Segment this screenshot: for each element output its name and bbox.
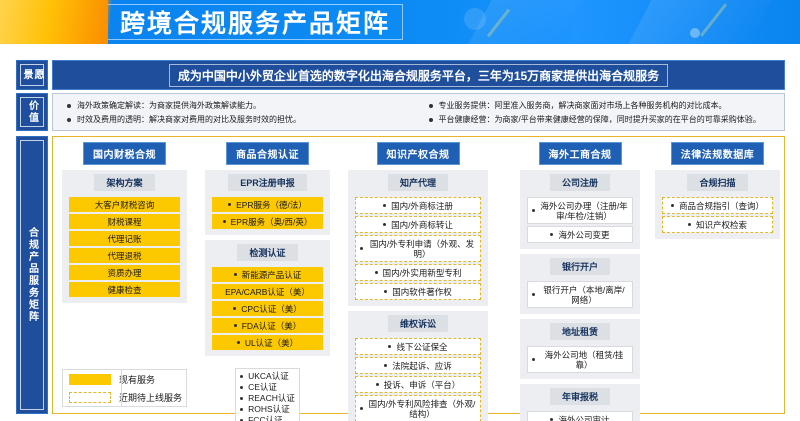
bullet-icon	[240, 397, 243, 400]
service-chip-label: 国内/外商标注册	[391, 201, 453, 211]
service-chip-label: 投诉、申诉（平台）	[384, 380, 461, 390]
column-header[interactable]: 法律法规数据库	[671, 142, 765, 165]
service-chip-label: EPR服务（奥/西/英）	[231, 217, 313, 227]
list-item[interactable]: ROHS认证	[240, 404, 295, 415]
service-chip[interactable]: 投诉、申诉（平台）	[355, 376, 481, 393]
service-chip[interactable]: 国内/外商标注册	[355, 197, 481, 214]
matrix-row-label: 合规产品服务矩阵	[16, 136, 48, 414]
service-chip[interactable]: 国内/外实用新型专利	[355, 264, 481, 281]
list-item-label: CE认证	[248, 382, 277, 393]
service-chip[interactable]: 财税课程	[69, 214, 180, 229]
service-chip-label: 资质办理	[107, 268, 141, 278]
service-chip-label: EPR服务（德/法）	[236, 200, 307, 210]
bullet-icon	[671, 204, 674, 207]
banner-line-decor-2	[700, 3, 727, 36]
vision-statement: 成为中国中小外贸企业首选的数字化出海合规服务平台，三年为15万商家提供出海合规服…	[169, 64, 668, 87]
service-chip[interactable]: 海外公司办理（注册/年审/年检/注销）	[527, 197, 633, 224]
group-subheader[interactable]: 检测认证	[237, 244, 297, 261]
legend-swatch-existing	[69, 374, 111, 385]
group-items: 新能源产品认证EPA/CARB认证（美）CPC认证（美）FDA认证（美）UL认证…	[208, 267, 327, 350]
service-chip[interactable]: EPR服务（德/法）	[212, 197, 323, 212]
service-chip-label: 国内/外专利风险排查（外观/结构）	[368, 399, 476, 419]
bullet-icon	[688, 223, 691, 226]
service-chip[interactable]: UL认证（美）	[212, 335, 323, 350]
group-items: 银行开户（本地/离岸/网络）	[523, 281, 637, 308]
matrix-column-5: 法律法规数据库合规扫描商品合规指引（查询）知识产权检索	[655, 142, 780, 239]
service-chip-label: UL认证（美）	[245, 338, 298, 348]
service-chip[interactable]: 法院起诉、应诉	[355, 357, 481, 374]
column-group: 知产代理国内/外商标注册国内/外商标转让国内/外专利申请（外观、发明）国内/外实…	[348, 170, 488, 306]
service-chip[interactable]: 国内/外专利风险排查（外观/结构）	[355, 395, 481, 421]
service-chip[interactable]: 代理记账	[69, 231, 180, 246]
bullet-icon	[388, 345, 391, 348]
list-item-label: REACH认证	[248, 393, 295, 404]
value-bar: 海外政策确定解读：为商家提供海外政策解读能力。 时效及费用的透明：解决商家对费用…	[52, 93, 785, 131]
list-item-label: UKCA认证	[248, 371, 289, 382]
service-chip[interactable]: 大客户财税咨询	[69, 197, 180, 212]
banner-circle-decor-2	[690, 28, 700, 38]
bullet-icon	[360, 247, 363, 250]
column-group: 检测认证新能源产品认证EPA/CARB认证（美）CPC认证（美）FDA认证（美）…	[205, 240, 330, 356]
bullet-icon	[67, 104, 71, 108]
page-title: 跨境合规服务产品矩阵	[120, 4, 390, 40]
service-chip-label: 海外公司地（租赁/挂靠）	[540, 350, 628, 370]
bullet-icon	[384, 364, 387, 367]
bullet-icon	[429, 118, 433, 122]
banner-swoosh-decor	[463, 0, 587, 44]
group-subheader[interactable]: 公司注册	[550, 174, 610, 191]
bullet-icon	[429, 104, 433, 108]
service-chip[interactable]: 线下公证保全	[355, 338, 481, 355]
group-subheader[interactable]: 年审报税	[550, 388, 610, 405]
bullet-icon	[234, 324, 237, 327]
service-chip-label: 线下公证保全	[396, 342, 447, 352]
service-chip-label: 健康检查	[107, 285, 141, 295]
column-group: EPR注册申报EPR服务（德/法）EPR服务（奥/西/英）	[205, 170, 330, 235]
column-group: 公司注册海外公司办理（注册/年审/年检/注销）海外公司变更	[520, 170, 640, 249]
value-column-left: 海外政策确定解读：为商家提供海外政策解读能力。 时效及费用的透明：解决商家对费用…	[57, 100, 419, 125]
bullet-icon	[67, 118, 71, 122]
group-subheader[interactable]: 架构方案	[94, 174, 154, 191]
service-chip-label: CPC认证（美）	[241, 304, 301, 314]
group-items: 商品合规指引（查询）知识产权检索	[658, 197, 777, 233]
column-header[interactable]: 国内财税合规	[83, 142, 166, 165]
bullet-icon	[532, 358, 535, 361]
legend-label-existing: 现有服务	[119, 373, 155, 386]
service-chip[interactable]: 代理退税	[69, 248, 180, 263]
service-chip[interactable]: EPR服务（奥/西/英）	[212, 214, 323, 229]
group-subheader[interactable]: 银行开户	[550, 258, 610, 275]
group-items: 海外公司办理（注册/年审/年检/注销）海外公司变更	[523, 197, 637, 243]
service-chip[interactable]: 资质办理	[69, 265, 180, 280]
vision-row-label: 愿景	[16, 60, 48, 90]
bullet-icon	[532, 209, 535, 212]
bullet-icon	[532, 293, 535, 296]
value-item: 专业服务提供：阿里准入服务商，解决商家面对市场上各种服务机构的对比成本。	[429, 100, 781, 111]
bullet-icon	[240, 375, 243, 378]
group-items: EPR服务（德/法）EPR服务（奥/西/英）	[208, 197, 327, 229]
value-column-right: 专业服务提供：阿里准入服务商，解决商家面对市场上各种服务机构的对比成本。 平台健…	[419, 100, 781, 125]
bullet-icon	[240, 408, 243, 411]
banner-swoosh-decor-2	[623, 0, 777, 44]
service-chip[interactable]: EPA/CARB认证（美）	[212, 284, 323, 299]
service-chip[interactable]: 银行开户（本地/离岸/网络）	[527, 281, 633, 308]
group-items: 国内/外商标注册国内/外商标转让国内/外专利申请（外观、发明）国内/外实用新型专…	[351, 197, 485, 300]
column-group: 银行开户银行开户（本地/离岸/网络）	[520, 254, 640, 314]
service-chip-label: 代理记账	[107, 234, 141, 244]
value-item: 海外政策确定解读：为商家提供海外政策解读能力。	[67, 100, 419, 111]
bullet-icon	[228, 203, 231, 206]
column-group: UKCA认证CE认证REACH认证ROHS认证FCC认证PSC认证TELEC认证	[205, 362, 330, 421]
matrix-column-2: 商品合规认证EPR注册申报EPR服务（德/法）EPR服务（奥/西/英）检测认证新…	[205, 142, 330, 421]
group-items: 大客户财税咨询财税课程代理记账代理退税资质办理健康检查	[65, 197, 184, 297]
legend: 现有服务 近期待上线服务	[62, 369, 187, 407]
service-chip[interactable]: 商品合规指引（查询）	[662, 197, 773, 214]
list-item-label: ROHS认证	[248, 404, 290, 415]
service-chip[interactable]: CPC认证（美）	[212, 301, 323, 316]
banner-line-decor	[487, 9, 510, 38]
column-header[interactable]: 海外工商合规	[539, 142, 622, 165]
vision-bar: 成为中国中小外贸企业首选的数字化出海合规服务平台，三年为15万商家提供出海合规服…	[52, 60, 785, 90]
matrix-label-text: 合规产品服务矩阵	[27, 227, 38, 323]
bullet-icon	[234, 273, 237, 276]
legend-divider	[121, 370, 122, 406]
group-subheader[interactable]: 地址租赁	[550, 323, 610, 340]
service-chip-label: 国内/外实用新型专利	[383, 268, 462, 278]
legend-row: 近期待上线服务	[63, 388, 186, 406]
column-group: 架构方案大客户财税咨询财税课程代理记账代理退税资质办理健康检查	[62, 170, 187, 303]
column-group: 地址租赁海外公司地（租赁/挂靠）	[520, 319, 640, 379]
bullet-icon	[384, 290, 387, 293]
bullet-icon	[223, 220, 226, 223]
service-chip-label: FDA认证（美）	[242, 321, 302, 331]
bullet-icon	[375, 271, 378, 274]
service-chip-label: 法院起诉、应诉	[392, 361, 452, 371]
service-chip[interactable]: FDA认证（美）	[212, 318, 323, 333]
bullet-icon	[383, 223, 386, 226]
bullet-icon	[237, 341, 240, 344]
bullet-icon	[233, 307, 236, 310]
service-chip-label: 财税课程	[107, 217, 141, 227]
service-chip[interactable]: 海外公司变更	[527, 226, 633, 243]
slide-canvas: 跨境合规服务产品矩阵 愿景 成为中国中小外贸企业首选的数字化出海合规服务平台，三…	[0, 0, 800, 421]
service-chip-label: 国内/外专利申请（外观、发明）	[368, 239, 476, 259]
bullet-icon	[360, 407, 363, 410]
service-chip[interactable]: 国内软件著作权	[355, 283, 481, 300]
group-subheader[interactable]: 合规扫描	[687, 174, 747, 191]
matrix-column-3: 知识产权合规知产代理国内/外商标注册国内/外商标转让国内/外专利申请（外观、发明…	[348, 142, 488, 421]
column-group: 维权诉讼线下公证保全法院起诉、应诉投诉、申诉（平台）国内/外专利风险排查（外观/…	[348, 311, 488, 421]
service-chip-label: 国内软件著作权	[392, 287, 452, 297]
bullet-icon	[376, 383, 379, 386]
service-chip-label: 商品合规指引（查询）	[679, 201, 764, 211]
service-chip[interactable]: 新能源产品认证	[212, 267, 323, 282]
service-chip-label: 海外公司办理（注册/年审/年检/注销）	[540, 201, 628, 221]
group-items: 海外公司审计海外公司代理记账海外公司所得税申报	[523, 411, 637, 421]
service-chip-label: 代理退税	[107, 251, 141, 261]
service-chip[interactable]: 健康检查	[69, 282, 180, 297]
service-chip-label: 大客户财税咨询	[95, 200, 155, 210]
value-item: 时效及费用的透明：解决商家对费用的对比及服务时效的担忧。	[67, 114, 419, 125]
list-item[interactable]: CE认证	[240, 382, 295, 393]
service-chip-label: EPA/CARB认证（美）	[225, 287, 310, 297]
group-items: 海外公司地（租赁/挂靠）	[523, 346, 637, 373]
column-group: 年审报税海外公司审计海外公司代理记账海外公司所得税申报	[520, 384, 640, 421]
certification-stack: UKCA认证CE认证REACH认证ROHS认证FCC认证PSC认证TELEC认证	[235, 368, 300, 421]
bullet-icon	[550, 233, 553, 236]
legend-label-upcoming: 近期待上线服务	[119, 391, 182, 404]
service-chip[interactable]: 国内/外专利申请（外观、发明）	[355, 235, 481, 262]
column-group: 合规扫描商品合规指引（查询）知识产权检索	[655, 170, 780, 239]
matrix-column-1: 国内财税合规架构方案大客户财税咨询财税课程代理记账代理退税资质办理健康检查	[62, 142, 187, 303]
title-banner: 跨境合规服务产品矩阵	[0, 0, 800, 44]
service-chip-label: 银行开户（本地/离岸/网络）	[540, 285, 628, 305]
banner-orange-block	[0, 0, 108, 44]
legend-swatch-upcoming	[69, 392, 111, 403]
service-chip[interactable]: 海外公司审计	[527, 411, 633, 421]
column-header[interactable]: 知识产权合规	[377, 142, 460, 165]
value-label-text: 价值	[27, 100, 38, 124]
list-item[interactable]: FCC认证	[240, 415, 295, 421]
service-chip[interactable]: 知识产权检索	[662, 216, 773, 233]
page-title-box: 跨境合规服务产品矩阵	[108, 4, 403, 40]
value-row-label: 价值	[16, 93, 48, 131]
list-item[interactable]: REACH认证	[240, 393, 295, 404]
bullet-icon	[383, 204, 386, 207]
service-chip-label: 知识产权检索	[696, 220, 747, 230]
group-subheader[interactable]: 知产代理	[388, 174, 448, 191]
service-chip-label: 海外公司变更	[558, 230, 609, 240]
list-item[interactable]: UKCA认证	[240, 371, 295, 382]
group-subheader[interactable]: EPR注册申报	[228, 174, 307, 191]
service-chip-label: 国内/外商标转让	[391, 220, 453, 230]
service-chip-label: 海外公司审计	[558, 415, 609, 421]
column-header[interactable]: 商品合规认证	[226, 142, 309, 165]
matrix-column-4: 海外工商合规公司注册海外公司办理（注册/年审/年检/注销）海外公司变更银行开户银…	[520, 142, 640, 421]
service-chip[interactable]: 海外公司地（租赁/挂靠）	[527, 346, 633, 373]
vision-label-text: 愿景	[21, 65, 43, 85]
bullet-icon	[240, 386, 243, 389]
list-item-label: FCC认证	[248, 415, 282, 421]
service-chip-label: 新能源产品认证	[242, 270, 302, 280]
service-chip[interactable]: 国内/外商标转让	[355, 216, 481, 233]
value-item: 平台健康经营：为商家/平台带来健康经营的保障，同时提升买家的在平台的可靠采购体验…	[429, 114, 781, 125]
legend-row: 现有服务	[63, 370, 186, 388]
group-items: 线下公证保全法院起诉、应诉投诉、申诉（平台）国内/外专利风险排查（外观/结构）	[351, 338, 485, 421]
group-subheader[interactable]: 维权诉讼	[388, 315, 448, 332]
banner-circle-decor	[464, 8, 486, 30]
